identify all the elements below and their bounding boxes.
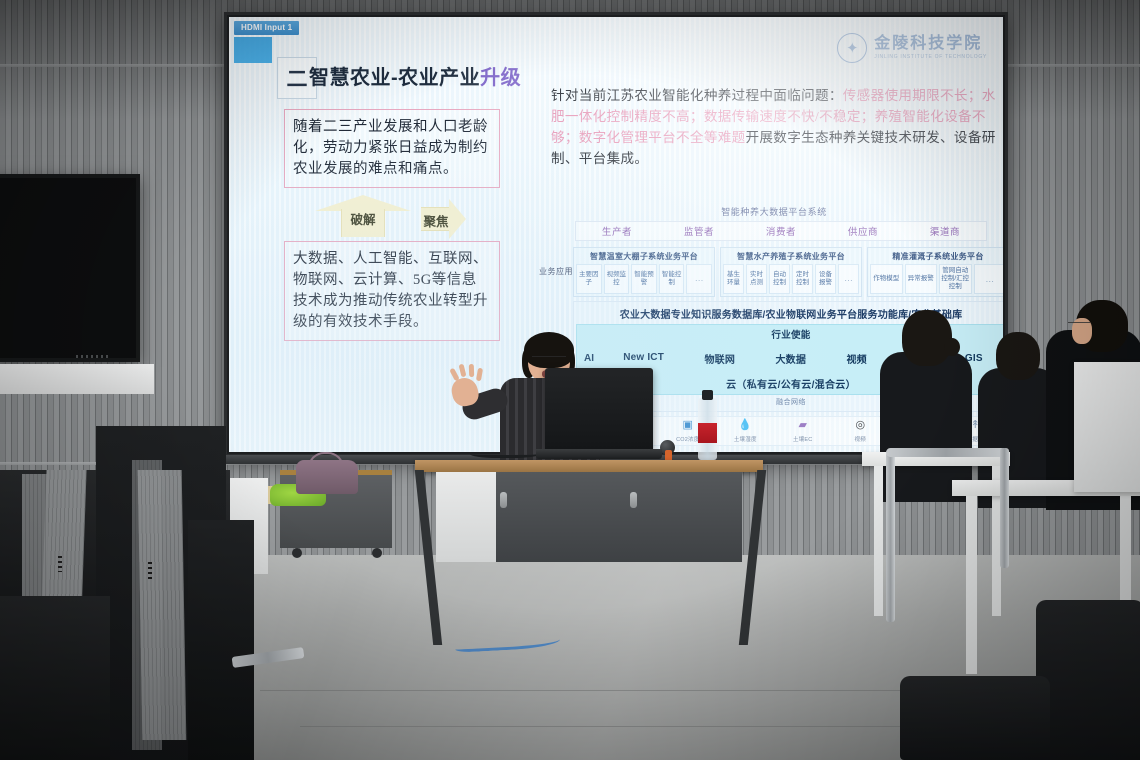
platform-row: 智慧温室大棚子系统业务平台 主要因子 视频监控 智能预警 智能控制 … bbox=[573, 247, 1003, 297]
hdmi-indicator-block bbox=[234, 37, 272, 63]
chair-chrome-frame bbox=[1000, 448, 1009, 568]
platform-aquaculture[interactable]: 智慧水产养殖子系统业务平台 基生环量 实时点测 自动控制 定时控制 设备报警 … bbox=[720, 247, 862, 297]
cell-item: 管网自动控制/汇控控制 bbox=[939, 264, 972, 294]
slide-title: 智慧农业-农业产业升级 bbox=[309, 61, 521, 90]
cabinet-wheel bbox=[372, 548, 382, 558]
cell-item: 异常报警 bbox=[905, 264, 938, 294]
platform-irrigation-name: 精准灌溉子系统业务平台 bbox=[870, 250, 1003, 264]
floor-tile-line-2 bbox=[300, 726, 940, 727]
business-application-band: 业务应用 智慧温室大棚子系统业务平台 主要因子 视频监控 智能预警 智能控制 bbox=[539, 247, 1003, 297]
university-logo: ✦ 金陵科技学院 JINLING INSTITUTE OF TECHNOLOGY bbox=[837, 33, 987, 63]
cell-item: 智能控制 bbox=[659, 264, 685, 294]
student-ponytail bbox=[944, 338, 960, 356]
wall-mounted-display[interactable] bbox=[0, 174, 140, 362]
sensor-label: 视频 bbox=[855, 435, 866, 443]
stakeholder-consumer: 消费者 bbox=[766, 224, 796, 238]
sensor-label: 土壤湿度 bbox=[734, 435, 757, 443]
cell-item: 设备报警 bbox=[815, 264, 836, 294]
chair-vent-holes bbox=[148, 562, 152, 580]
slide-title-main: 智慧农业-农业产业 bbox=[309, 67, 480, 89]
bottle-label bbox=[698, 423, 717, 443]
cell-item: 主要因子 bbox=[576, 264, 602, 294]
cell-item: 作物模型 bbox=[870, 264, 903, 294]
left-text-box-solution: 大数据、人工智能、互联网、物联网、云计算、5G等信息技术成为推动传统农业转型升级… bbox=[284, 241, 500, 341]
laptop-keyboard-base[interactable] bbox=[536, 449, 662, 459]
lectern-side-panel bbox=[436, 472, 496, 562]
cell-item: 定时控制 bbox=[792, 264, 813, 294]
cell-item: … bbox=[838, 264, 859, 294]
student-desk-leg bbox=[966, 496, 977, 674]
cell-item: 自动控制 bbox=[769, 264, 790, 294]
sensor-label: CO2浓度 bbox=[676, 435, 699, 443]
cell-item: 智能预警 bbox=[631, 264, 657, 294]
business-platforms: 智慧温室大棚子系统业务平台 主要因子 视频监控 智能预警 智能控制 … bbox=[573, 247, 1003, 297]
arrow-up-label: 破解 bbox=[315, 209, 411, 228]
cell-item: … bbox=[686, 264, 712, 294]
slide-title-highlight: 升级 bbox=[480, 67, 521, 89]
band-label-business: 业务应用 bbox=[539, 247, 573, 297]
foreground-chair-post bbox=[188, 520, 254, 760]
stakeholder-channel: 渠道商 bbox=[930, 224, 960, 238]
classroom-scene: HDMI Input 1 二 智慧农业-农业产业升级 ✦ 金陵科技学院 JINL… bbox=[0, 0, 1140, 760]
sensor-item: 💧 土壤湿度 bbox=[725, 420, 765, 443]
glasses-icon bbox=[1068, 322, 1090, 328]
chair-chrome-frame bbox=[886, 452, 895, 622]
sensor-item: ▰ 土壤EC bbox=[783, 420, 823, 443]
logo-name-en: JINLING INSTITUTE OF TECHNOLOGY bbox=[874, 55, 987, 60]
stakeholder-supplier: 供应商 bbox=[848, 224, 878, 238]
tech-item-new-ict: New ICT bbox=[623, 353, 664, 364]
presenter-finger bbox=[469, 364, 474, 377]
foreground-chair-right-seat bbox=[900, 676, 1050, 760]
sensor-label: 土壤EC bbox=[793, 435, 812, 443]
left-text-box-problem: 随着二三产业发展和人口老龄化，劳动力紧张日益成为制约农业发展的难点和痛点。 bbox=[284, 109, 500, 188]
student-front-right-head bbox=[902, 310, 952, 366]
platform-greenhouse[interactable]: 智慧温室大棚子系统业务平台 主要因子 视频监控 智能预警 智能控制 … bbox=[573, 247, 715, 297]
chair-chrome-rail bbox=[886, 448, 1006, 457]
chair-vent-holes bbox=[58, 556, 62, 572]
student-second-head bbox=[996, 332, 1040, 380]
stakeholder-regulator: 监管者 bbox=[684, 224, 714, 238]
cell-item: 视频监控 bbox=[604, 264, 630, 294]
soil-moisture-icon: 💧 bbox=[738, 420, 752, 433]
tech-item-video: 视频 bbox=[846, 351, 866, 366]
student-desk-leg bbox=[874, 466, 883, 616]
camera-icon: ◎ bbox=[855, 420, 865, 433]
floor-tile-line-1 bbox=[260, 690, 960, 691]
stakeholder-producer: 生产者 bbox=[602, 224, 632, 238]
handbag bbox=[296, 460, 358, 494]
foreground-chair-right bbox=[1036, 600, 1140, 760]
platform-aquaculture-name: 智慧水产养殖子系统业务平台 bbox=[723, 250, 859, 264]
logo-texts: 金陵科技学院 JINLING INSTITUTE OF TECHNOLOGY bbox=[874, 36, 987, 60]
cell-item: 实时点测 bbox=[746, 264, 767, 294]
platform-greenhouse-name: 智慧温室大棚子系统业务平台 bbox=[576, 250, 712, 264]
stakeholder-row: 生产者 监管者 消费者 供应商 渠道商 bbox=[575, 221, 987, 241]
cell-item: … bbox=[974, 264, 1004, 294]
hdmi-input-badge: HDMI Input 1 bbox=[234, 21, 299, 35]
desk-cable bbox=[470, 448, 540, 458]
arrow-right-label: 聚焦 bbox=[419, 211, 453, 230]
right-paragraph: 针对当前江苏农业智能化种养过程中面临问题：传感器使用期限不长；水肥一体化控制精度… bbox=[551, 85, 999, 169]
glasses-icon bbox=[532, 356, 566, 364]
desk-lock bbox=[500, 492, 507, 508]
laptop[interactable] bbox=[545, 368, 653, 450]
bottle-cap bbox=[702, 390, 713, 400]
mesh-chair-back-center bbox=[138, 470, 187, 740]
logo-name-cn: 金陵科技学院 bbox=[874, 36, 987, 52]
cabinet-wheel bbox=[292, 548, 302, 558]
display-shelf bbox=[0, 364, 154, 394]
diagram-title: 智能种养大数据平台系统 bbox=[539, 205, 1003, 218]
cell-item: 基生环量 bbox=[723, 264, 744, 294]
paragraph-lead: 针对当前江苏农业智能化种养过程中面临问题： bbox=[551, 88, 843, 103]
foreground-chair-seat-left bbox=[0, 596, 110, 760]
co2-sensor-icon: ▣ bbox=[683, 420, 693, 433]
display-control-leds bbox=[76, 355, 110, 358]
sensor-item: ◎ 视频 bbox=[840, 420, 880, 443]
tech-item-iot: 物联网 bbox=[704, 351, 735, 366]
student-chair-back-panel bbox=[1074, 362, 1140, 492]
platform-irrigation[interactable]: 精准灌溉子系统业务平台 作物模型 异常报警 管网自动控制/汇控控制 … bbox=[867, 247, 1003, 297]
desk-lock bbox=[630, 492, 637, 508]
tech-item-bigdata: 大数据 bbox=[775, 351, 806, 366]
lectern-desk-top bbox=[415, 460, 763, 472]
university-crest-icon: ✦ bbox=[837, 33, 867, 63]
soil-ec-icon: ▰ bbox=[799, 420, 807, 433]
